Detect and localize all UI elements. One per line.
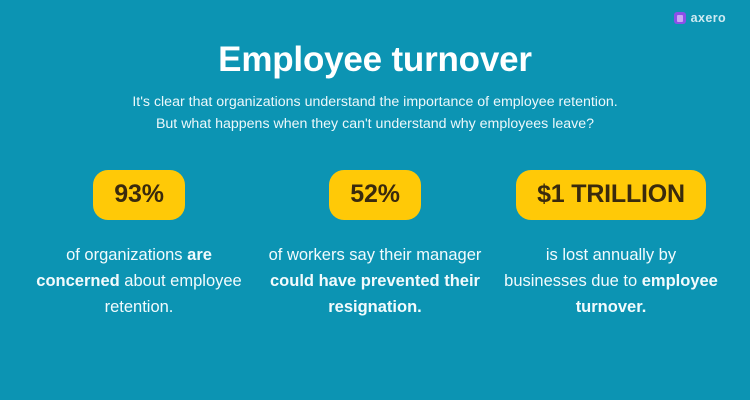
subtitle: It's clear that organizations understand…	[132, 91, 617, 135]
stat-caption: of organizations are concerned about emp…	[32, 242, 247, 320]
stat-caption: is lost annually by businesses due to em…	[504, 242, 719, 320]
stat-columns: 93% of organizations are concerned about…	[0, 170, 750, 320]
stat-badge: $1 TRILLION	[516, 170, 706, 220]
stat-badge: 93%	[93, 170, 184, 220]
stat-badge: 52%	[329, 170, 420, 220]
brand-name: axero	[691, 11, 726, 25]
page-title: Employee turnover	[218, 41, 532, 79]
stat-column: $1 TRILLION is lost annually by business…	[493, 170, 729, 320]
subtitle-line-2: But what happens when they can't underst…	[132, 113, 617, 135]
stat-column: 93% of organizations are concerned about…	[21, 170, 257, 320]
stat-caption: of workers say their manager could have …	[268, 242, 483, 320]
infographic-slide: axero Employee turnover It's clear that …	[0, 0, 750, 400]
subtitle-line-1: It's clear that organizations understand…	[132, 91, 617, 113]
brand-logo: axero	[674, 11, 726, 25]
stat-column: 52% of workers say their manager could h…	[257, 170, 493, 320]
axero-logo-icon	[674, 12, 686, 24]
